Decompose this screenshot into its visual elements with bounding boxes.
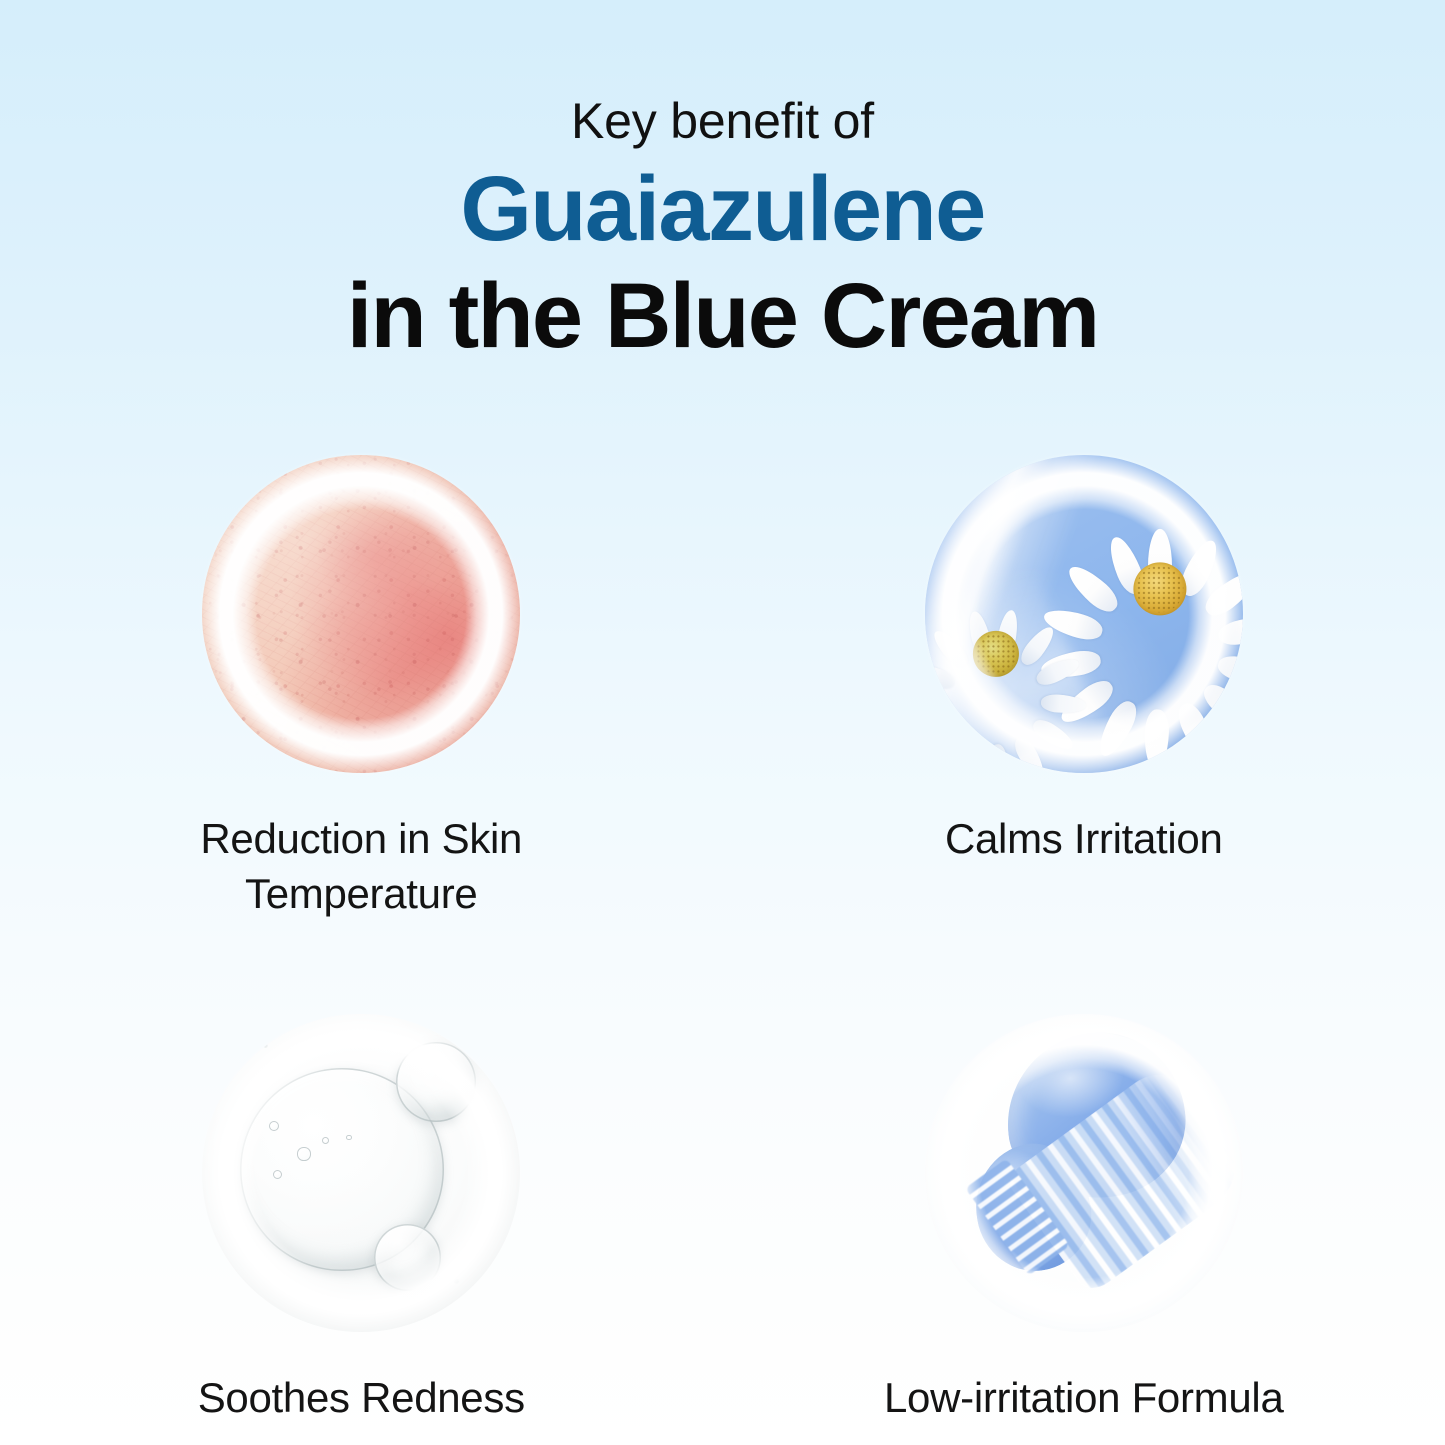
benefit-item-skin-temperature: Reduction in Skin Temperature [0, 455, 723, 922]
page-title: Key benefit of Guaiazulene in the Blue C… [0, 92, 1445, 369]
irritated-red-skin-photo [202, 455, 520, 773]
chamomile-flower-small-icon [944, 601, 1049, 706]
clear-gel-droplet-photo [202, 1014, 520, 1332]
benefit-caption: Soothes Redness [198, 1370, 525, 1425]
benefit-image-wrap-skin-temperature [202, 455, 520, 773]
chamomile-flower-large-icon [1090, 519, 1230, 659]
daisy-pollen-center [1134, 562, 1187, 615]
daisy-pollen-center [973, 631, 1019, 677]
benefit-item-soothes-redness: Soothes Redness [0, 1014, 723, 1425]
gel-specks [202, 1014, 520, 1332]
benefit-caption: Reduction in Skin Temperature [146, 811, 576, 922]
benefit-caption: Calms Irritation [945, 811, 1223, 866]
blue-cream-swatch-photo [925, 1014, 1243, 1332]
skin-shading-overlay [202, 455, 520, 773]
heading-product-name: in the Blue Cream [0, 264, 1445, 369]
benefit-caption: Low-irritation Formula [884, 1370, 1284, 1425]
heading-eyebrow: Key benefit of [0, 92, 1445, 151]
benefit-item-low-irritation-formula: Low-irritation Formula [723, 1014, 1445, 1425]
benefit-image-wrap-calms-irritation [925, 455, 1243, 773]
benefit-item-calms-irritation: Calms Irritation [723, 455, 1445, 922]
benefit-image-wrap-soothes-redness [202, 1014, 520, 1332]
heading-ingredient-name: Guaiazulene [0, 157, 1445, 262]
benefit-grid: Reduction in Skin Temperature [0, 455, 1445, 1425]
product-benefit-infographic: Key benefit of Guaiazulene in the Blue C… [0, 0, 1445, 1445]
chamomile-flowers-on-blue-photo [925, 455, 1243, 773]
benefit-image-wrap-low-irritation-formula [925, 1014, 1243, 1332]
